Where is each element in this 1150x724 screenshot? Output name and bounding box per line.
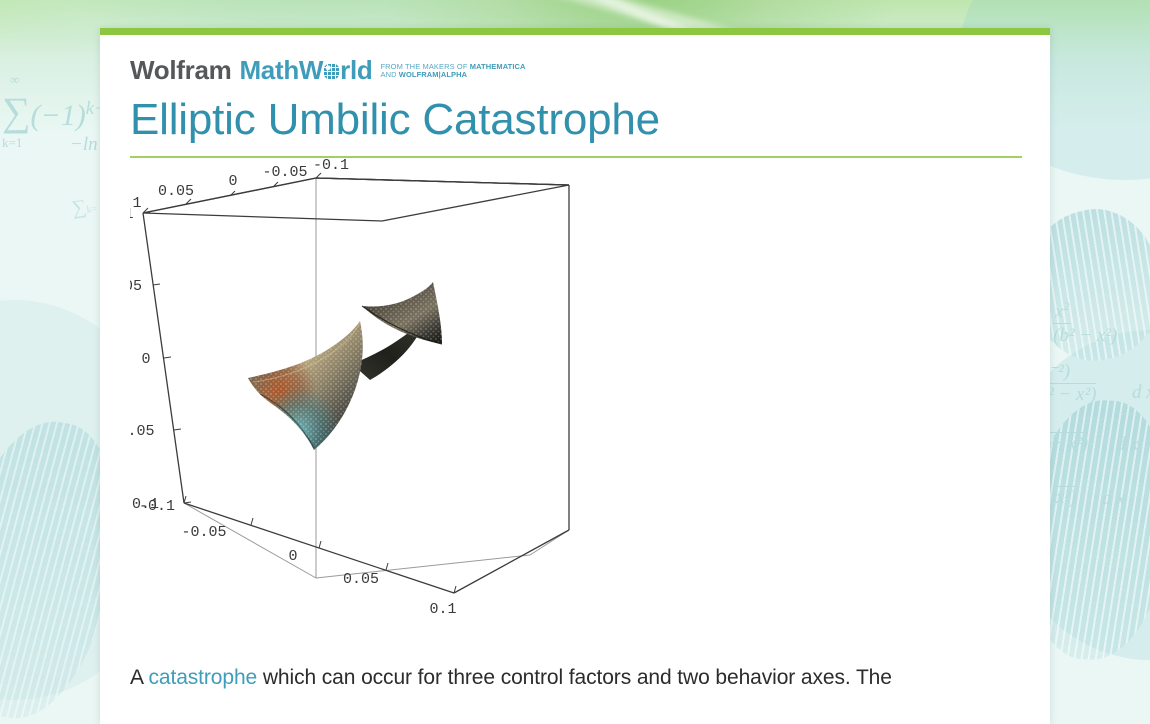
tick-top-1: 0.05	[158, 183, 194, 200]
background-formula-sum: ∞ ∑ k=1 (−1)k−1	[2, 88, 116, 135]
background-formula-ln-text: −ln	[70, 134, 98, 155]
tagline-line-2-light: AND	[380, 70, 398, 79]
tick-left-3: -0.05	[130, 423, 155, 440]
background-formula-sum-small-sub: k=	[86, 203, 98, 215]
figure-elliptic-umbilic-plot[interactable]: 0.1 0.05 0 -0.05 -0.1 0.1 0.05 0 -0.05 -…	[130, 158, 1024, 658]
tagline-line-2-bold: WOLFRAM|ALPHA	[399, 70, 467, 79]
background-formula-right-2-num: ⁻²)	[1048, 360, 1096, 384]
plot-ticks-bottom	[184, 496, 456, 593]
link-catastrophe[interactable]: catastrophe	[148, 666, 257, 689]
background-formula-sum-body: (−1)	[31, 99, 86, 132]
paragraph-text-before: A	[130, 666, 148, 689]
background-formula-right-4: x²) d x	[1056, 486, 1076, 509]
background-formula-right-3-tail: d x	[1116, 434, 1139, 456]
axis-labels-left: 0.1 0.05 0 -0.05 -0.1	[130, 206, 159, 513]
surface-lobe-lower-left	[248, 321, 363, 450]
background-formula-sum-sub: k=1	[2, 135, 22, 151]
content-card: Wolfram MathWrld FROM THE MAKERS OF MATH…	[100, 28, 1050, 724]
accent-topbar	[100, 28, 1050, 35]
tagline-line-2: AND WOLFRAM|ALPHA	[380, 71, 525, 80]
background-formula-right-3: − x²) d x	[1050, 432, 1088, 455]
tick-left-0: 0.1	[130, 206, 134, 223]
tick-bottom-4: 0.1	[429, 601, 456, 618]
tick-top-4: -0.1	[313, 158, 349, 174]
background-formula-right-1: x2 (b² − x²) d x	[1053, 300, 1117, 347]
background-formula-ln: −ln	[70, 134, 98, 156]
tick-bottom-2: 0	[288, 548, 297, 565]
logo-mathworld-text: MathWrld	[239, 57, 372, 83]
tick-left-1: 0.05	[130, 278, 142, 295]
tick-bottom-3: 0.05	[343, 571, 379, 588]
tick-bottom-0: -0.1	[139, 498, 175, 515]
tick-left-2: 0	[141, 351, 150, 368]
logo-wolfram-text: Wolfram	[130, 57, 231, 83]
tick-top-3: -0.05	[262, 164, 307, 181]
axis-labels-bottom: -0.1 -0.05 0 0.05 0.1	[139, 498, 457, 618]
tick-bottom-1: -0.05	[181, 524, 226, 541]
background-formula-right-1-den: (b² − x²)	[1053, 325, 1117, 347]
background-formula-right-4-tail: d x	[1102, 488, 1125, 510]
background-formula-right-2: ⁻²) ² − x²) d x	[1048, 360, 1096, 406]
background-formula-right-4-den: x²)	[1056, 486, 1076, 509]
plot-3d-svg: 0.1 0.05 0 -0.05 -0.1 0.1 0.05 0 -0.05 -…	[130, 158, 1024, 658]
site-masthead[interactable]: Wolfram MathWrld FROM THE MAKERS OF MATH…	[128, 35, 1022, 83]
background-formula-right-3-den: − x²)	[1050, 432, 1088, 455]
background-formula-right-1-sup: 2	[1063, 300, 1069, 313]
page-title: Elliptic Umbilic Catastrophe	[130, 97, 1022, 144]
background-formula-right-2-tail: d x	[1132, 382, 1150, 404]
definition-paragraph: A catastrophe which can occur for three …	[130, 664, 1022, 691]
tagline-line-1-bold: MATHEMATICA	[470, 62, 526, 71]
background-formula-right-2-den: ² − x²)	[1048, 384, 1096, 406]
globe-icon	[323, 63, 340, 80]
tick-top-2: 0	[228, 173, 237, 190]
background-formula-sum-sigma: ∑	[2, 89, 31, 134]
plot-box-back-edges	[184, 178, 569, 578]
background-formula-sum-small: ∑k=	[71, 194, 99, 220]
logo-mathworld-post: rld	[340, 57, 372, 83]
background-formula-sum-sup: ∞	[10, 72, 19, 88]
surface-lobe-upper-right	[362, 282, 442, 344]
logo-tagline: FROM THE MAKERS OF MATHEMATICA AND WOLFR…	[380, 63, 525, 83]
logo-mathworld-pre: MathW	[239, 57, 323, 83]
paragraph-text-after: which can occur for three control factor…	[257, 666, 892, 689]
